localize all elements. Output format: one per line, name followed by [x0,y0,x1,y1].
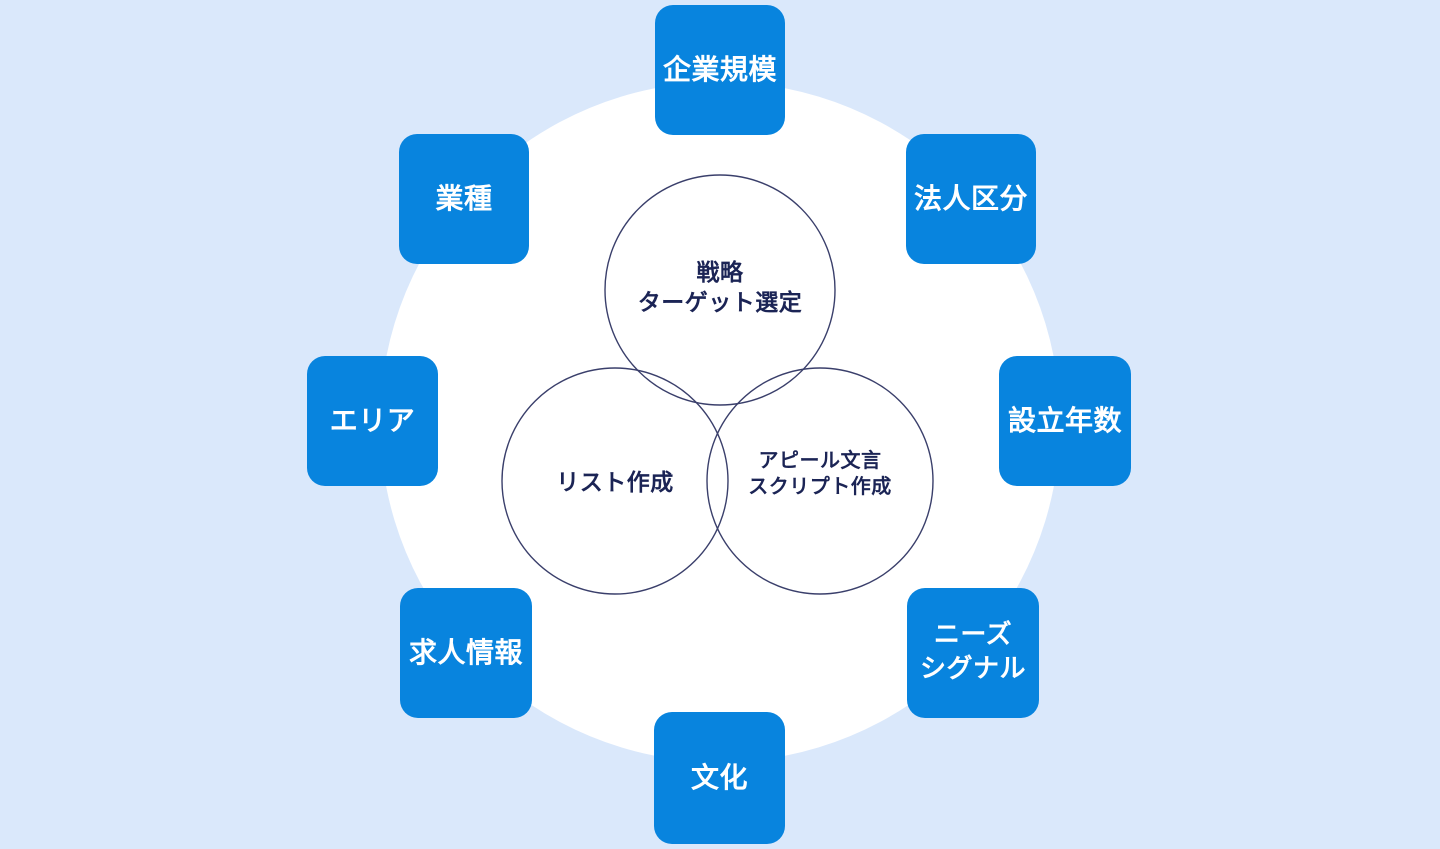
chip-needs-signal[interactable]: ニーズ シグナル [907,588,1039,718]
chip-bunka[interactable]: 文化 [654,712,785,844]
venn-circle-script [707,368,933,594]
chip-area[interactable]: エリア [307,356,438,486]
chip-setsuritsu-nensu[interactable]: 設立年数 [999,356,1131,486]
chip-kyujin-joho[interactable]: 求人情報 [400,588,532,718]
venn-diagram-canvas: 戦略 ターゲット選定 リスト作成 アピール文言 スクリプト作成 企業規模 法人区… [0,0,1440,849]
chip-kigyo-kibo[interactable]: 企業規模 [655,5,785,135]
chip-gyoshu[interactable]: 業種 [399,134,529,264]
chip-hojin-kubun[interactable]: 法人区分 [906,134,1036,264]
